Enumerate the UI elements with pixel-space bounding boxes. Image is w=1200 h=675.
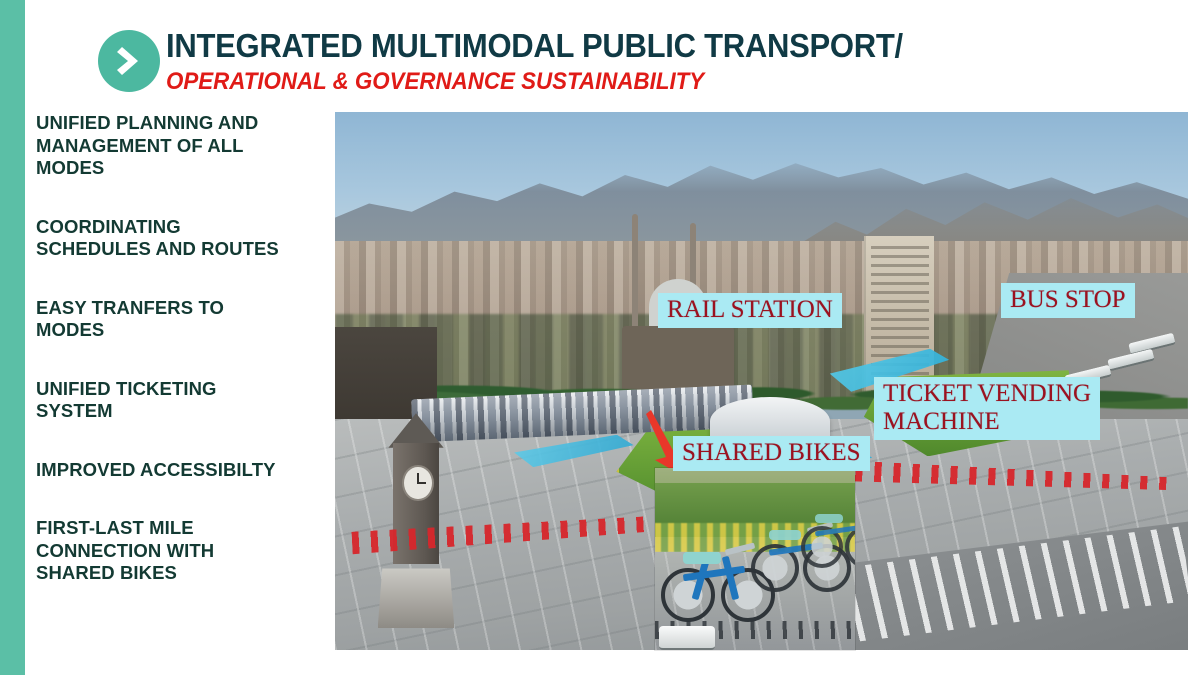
bullet-item-4: UNIFIED TICKETING SYSTEM — [36, 378, 328, 423]
bike-wheel — [845, 526, 855, 568]
bullet-item-2: COORDINATING SCHEDULES AND ROUTES — [36, 216, 328, 261]
bullet-item-6: FIRST-LAST MILE CONNECTION WITH SHARED B… — [36, 517, 328, 585]
bullet-list: UNIFIED PLANNING AND MANAGEMENT OF ALL M… — [36, 112, 328, 617]
chevron-right-icon — [98, 30, 160, 92]
photo-label-rail-station: RAIL STATION — [658, 293, 842, 328]
left-accent-stripe — [0, 0, 25, 675]
bullet-item-5: IMPROVED ACCESSIBILTY — [36, 459, 328, 482]
bike-seat — [815, 514, 843, 523]
bullet-item-3: EASY TRANFERS TO MODES — [36, 297, 328, 342]
slide-header: INTEGRATED MULTIMODAL PUBLIC TRANSPORT/ … — [98, 26, 1098, 106]
photo-label-bus-stop: BUS STOP — [1001, 283, 1135, 318]
shared-bikes-inset-photo — [655, 468, 855, 650]
clock-face — [402, 465, 434, 501]
photo-label-ticket-vending-machine: TICKET VENDING MACHINE — [874, 377, 1100, 440]
title-block: INTEGRATED MULTIMODAL PUBLIC TRANSPORT/ … — [166, 26, 950, 97]
clock-tower — [378, 413, 455, 628]
clock-tower-base — [378, 555, 455, 628]
shared-bike — [801, 502, 855, 564]
van-vehicle — [659, 626, 715, 650]
page-subtitle: OPERATIONAL & GOVERNANCE SUSTAINABILITY — [166, 67, 895, 97]
bike-seat — [683, 552, 721, 564]
bike-seat — [769, 530, 801, 540]
bullet-item-1: UNIFIED PLANNING AND MANAGEMENT OF ALL M… — [36, 112, 328, 180]
slide-root: INTEGRATED MULTIMODAL PUBLIC TRANSPORT/ … — [0, 0, 1200, 675]
photo-label-shared-bikes: SHARED BIKES — [673, 436, 870, 471]
page-title: INTEGRATED MULTIMODAL PUBLIC TRANSPORT/ — [166, 26, 903, 66]
